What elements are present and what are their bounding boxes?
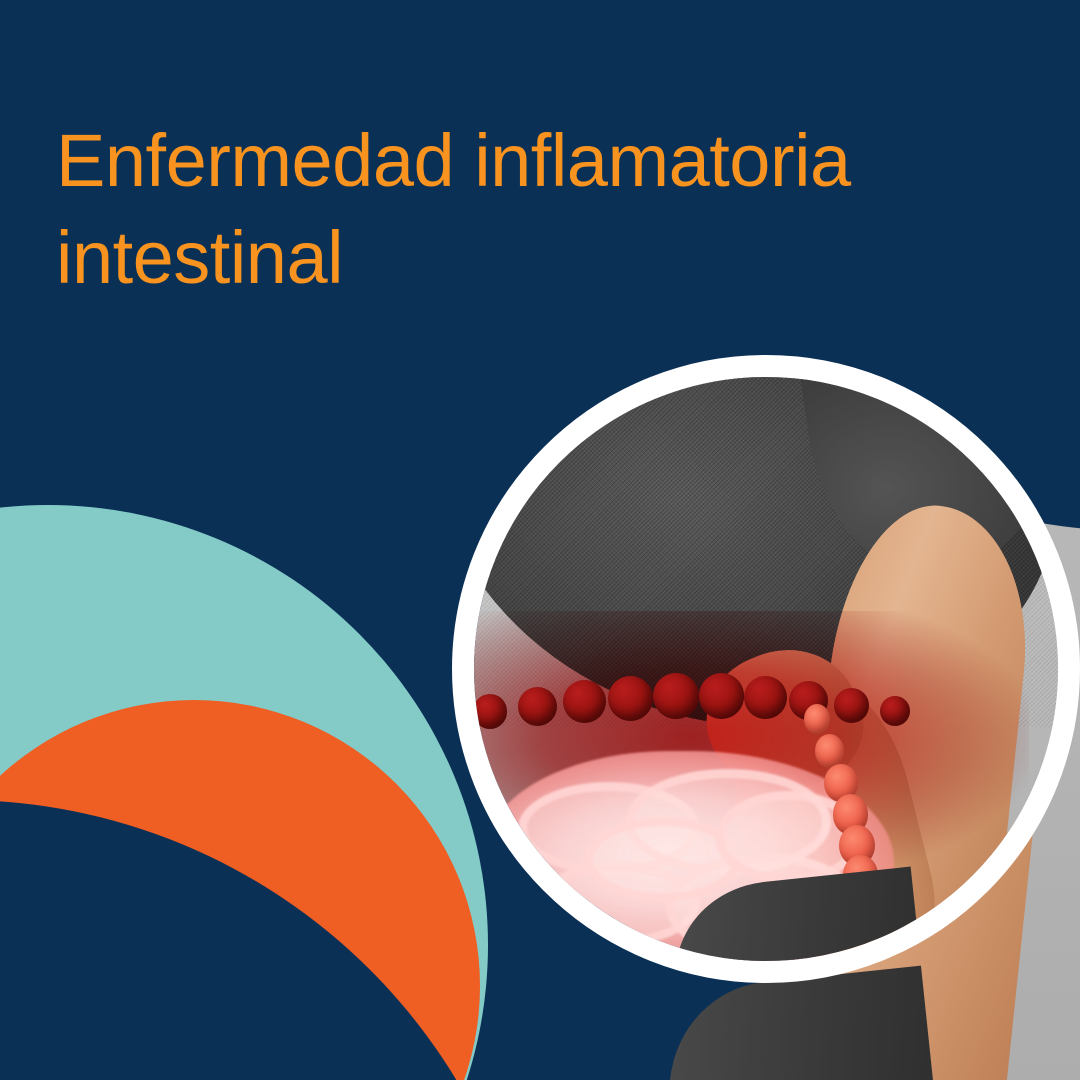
colon-haustrum bbox=[880, 696, 910, 726]
page-title: Enfermedad inflamatoria intestinal bbox=[56, 112, 956, 306]
descending-colon-haustrum bbox=[804, 704, 830, 734]
photo-image bbox=[474, 377, 1058, 961]
colon-haustrum bbox=[473, 694, 508, 729]
shorts-bleed bbox=[658, 965, 937, 1080]
circular-photo-frame bbox=[452, 355, 1080, 983]
colon-haustrum bbox=[518, 687, 557, 726]
poster-canvas: Enfermedad inflamatoria intestinal bbox=[0, 0, 1080, 1080]
descending-colon-haustrum bbox=[815, 734, 845, 768]
colon-haustrum bbox=[563, 680, 606, 723]
colon-haustrum bbox=[608, 676, 653, 721]
colon-haustrum bbox=[653, 673, 699, 719]
